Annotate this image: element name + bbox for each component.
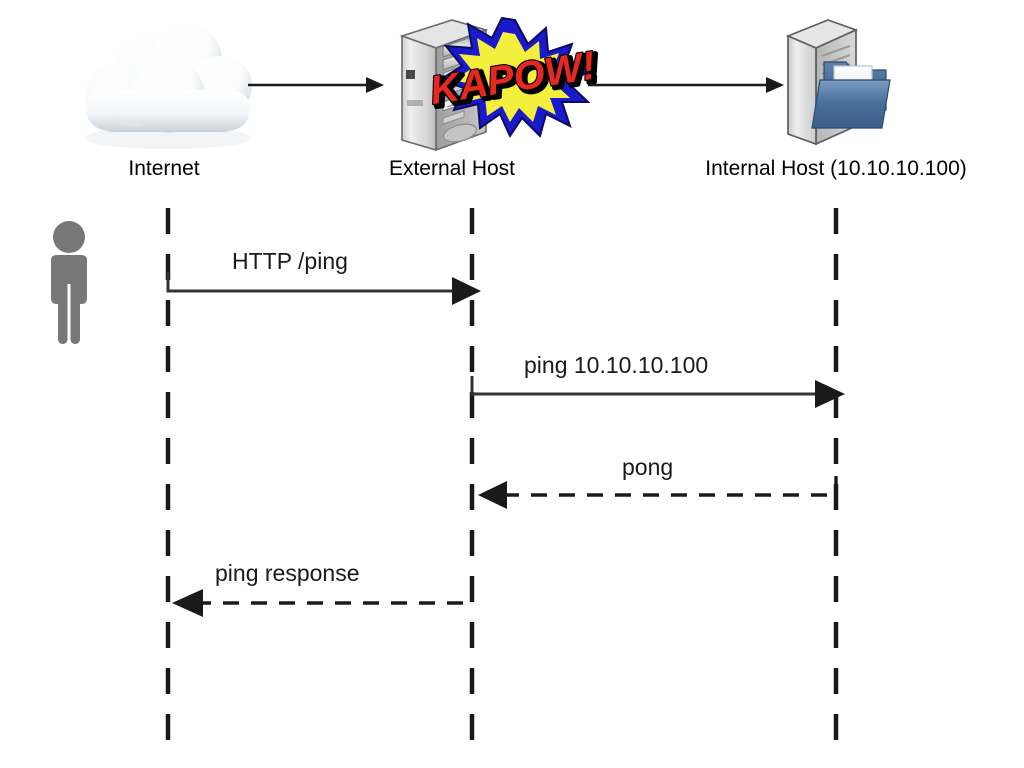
sequence-svg-layer xyxy=(0,0,1024,768)
message-label-ping-target: ping 10.10.10.100 xyxy=(524,354,708,377)
message-label-http-ping: HTTP /ping xyxy=(232,250,348,273)
message-arrow-pong xyxy=(478,476,836,509)
message-arrow-http-ping xyxy=(168,272,481,305)
diagram-canvas: KAPOW! KAPOW! xyxy=(0,0,1024,768)
message-arrow-ping-target xyxy=(472,376,845,408)
message-label-ping-response: ping response xyxy=(215,562,360,585)
message-label-pong: pong xyxy=(622,456,673,479)
message-arrow-ping-response xyxy=(172,584,472,617)
